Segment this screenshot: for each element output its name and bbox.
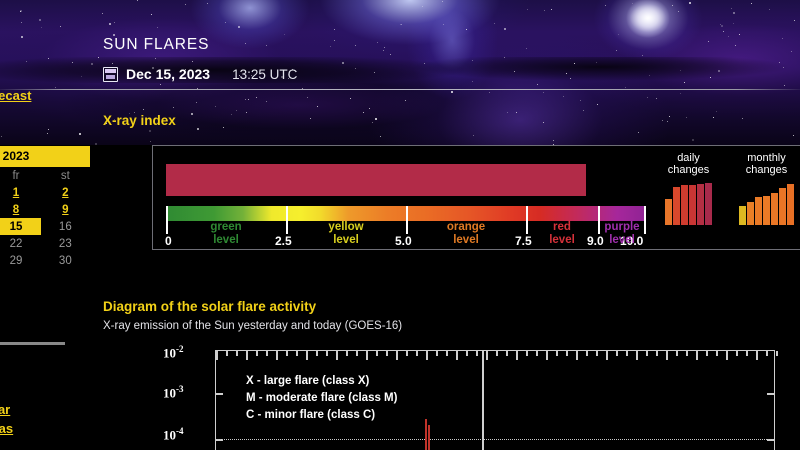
star xyxy=(662,120,663,121)
flare-class-legend: X - large flare (class X) M - moderate f… xyxy=(246,373,397,424)
star xyxy=(583,110,584,111)
star xyxy=(728,36,729,37)
calendar-weekday: st xyxy=(41,167,90,184)
x-axis-tick xyxy=(716,351,718,356)
star xyxy=(374,72,375,73)
sidebar-calendar[interactable]: 2023 nfrst 12789141516212223282930 xyxy=(0,146,90,269)
monthly-changes-title-line2: changes xyxy=(739,164,794,176)
star xyxy=(401,24,402,25)
star xyxy=(307,97,308,98)
star xyxy=(245,43,246,44)
star xyxy=(742,118,743,119)
star xyxy=(710,77,711,78)
star xyxy=(649,75,650,76)
star xyxy=(372,122,373,123)
star xyxy=(256,97,257,98)
star xyxy=(150,141,151,142)
star xyxy=(197,128,199,130)
star xyxy=(451,91,453,93)
star xyxy=(363,112,364,113)
x-axis-tick xyxy=(576,351,578,360)
x-axis-tick xyxy=(426,351,428,360)
star xyxy=(784,85,785,86)
x-axis-tick xyxy=(346,351,348,356)
x-axis-tick xyxy=(336,351,338,360)
star xyxy=(514,71,515,72)
star xyxy=(733,12,735,14)
star xyxy=(248,99,249,100)
x-axis-tick xyxy=(306,351,308,360)
calendar-week-row: 141516 xyxy=(0,218,90,235)
x-axis-tick xyxy=(666,351,668,360)
star xyxy=(473,135,474,136)
star xyxy=(155,58,156,59)
x-axis-tick xyxy=(676,351,678,356)
sidebar: ine y forecast 2023 nfrst 12789141516212… xyxy=(0,0,90,450)
star xyxy=(157,27,158,28)
x-axis-tick xyxy=(626,351,628,356)
legend-item-m: M - moderate flare (class M) xyxy=(246,390,397,407)
x-axis-tick xyxy=(686,351,688,356)
y-tick-right-1e-3 xyxy=(767,393,774,395)
star xyxy=(466,29,467,30)
calendar-day-15[interactable]: 15 xyxy=(0,218,41,235)
star xyxy=(543,122,544,123)
star xyxy=(390,54,391,55)
star xyxy=(422,6,423,7)
x-axis-tick xyxy=(776,351,778,356)
star xyxy=(597,104,598,105)
x-axis-tick xyxy=(496,351,498,356)
sidebar-note-line1: in solar xyxy=(0,400,13,419)
star xyxy=(266,101,267,102)
goes-plot-area: X - large flare (class X) M - moderate f… xyxy=(215,350,775,450)
calendar-day-29: 29 xyxy=(0,252,41,269)
star xyxy=(563,96,564,97)
star xyxy=(225,22,226,23)
daily-changes-title-line1: daily xyxy=(665,152,712,164)
report-time: 13:25 UTC xyxy=(232,67,297,82)
star xyxy=(642,55,643,56)
x-axis-tick xyxy=(556,351,558,356)
scale-tick-label: 0 xyxy=(165,234,172,248)
mini-bar xyxy=(763,196,770,225)
calendar-week-row: 12 xyxy=(0,184,90,201)
level-label-name: green xyxy=(210,221,241,233)
star xyxy=(160,84,161,85)
star xyxy=(580,100,581,101)
x-axis-tick xyxy=(256,351,258,356)
page-root: SUN FLARES Dec 15, 2023 13:25 UTC X-ray … xyxy=(0,0,800,450)
star xyxy=(684,82,685,83)
section-title-diagram: Diagram of the solar flare activity xyxy=(103,299,316,314)
star xyxy=(384,47,385,48)
level-label-word: level xyxy=(213,234,239,246)
x-axis-tick xyxy=(646,351,648,356)
star xyxy=(570,78,571,79)
star xyxy=(574,63,575,64)
mini-bar xyxy=(747,202,754,225)
calendar-header-year: 2023 xyxy=(0,146,90,167)
y-axis-label-1e-3: 10-3 xyxy=(163,384,184,401)
star xyxy=(236,110,237,111)
star xyxy=(647,97,648,98)
x-axis-tick xyxy=(526,351,528,356)
mini-bar xyxy=(755,197,762,225)
star xyxy=(731,8,732,9)
calendar-week-row: 212223 xyxy=(0,235,90,252)
legend-item-x: X - large flare (class X) xyxy=(246,373,397,390)
calendar-day-2[interactable]: 2 xyxy=(41,184,90,201)
calendar-table[interactable]: nfrst 12789141516212223282930 xyxy=(0,167,90,269)
x-axis-tick xyxy=(466,351,468,356)
header-divider xyxy=(0,89,800,90)
star xyxy=(791,51,792,52)
level-label-name: yellow xyxy=(328,221,363,233)
star xyxy=(507,112,508,113)
mini-bar xyxy=(681,185,688,225)
calendar-body[interactable]: 12789141516212223282930 xyxy=(0,184,90,269)
star xyxy=(526,48,527,49)
star xyxy=(91,63,93,65)
star xyxy=(424,63,425,64)
star xyxy=(375,118,377,120)
x-axis-tick xyxy=(706,351,708,356)
star xyxy=(686,117,687,118)
scale-tick-label: 7.5 xyxy=(515,234,532,248)
star xyxy=(207,3,208,4)
star xyxy=(656,98,657,99)
star xyxy=(504,57,505,58)
star xyxy=(112,63,113,64)
star xyxy=(537,84,538,85)
star xyxy=(669,116,670,117)
x-axis-tick xyxy=(756,351,758,360)
x-axis-tick xyxy=(586,351,588,356)
x-axis-tick xyxy=(766,351,768,356)
level-label-word: level xyxy=(549,234,575,246)
mini-bar xyxy=(697,184,704,225)
report-date: Dec 15, 2023 xyxy=(126,66,210,82)
calendar-day-16: 16 xyxy=(41,218,90,235)
calendar-icon xyxy=(103,67,118,82)
star xyxy=(739,34,740,35)
star xyxy=(527,9,528,10)
day-boundary-line xyxy=(482,351,484,450)
x-axis-tick xyxy=(386,351,388,356)
star xyxy=(516,112,517,113)
star xyxy=(143,109,144,110)
star xyxy=(196,102,197,103)
y-tick-left-1e-3 xyxy=(216,393,223,395)
level-label-purple: purplelevel xyxy=(592,221,652,246)
star xyxy=(680,93,681,94)
mini-bar xyxy=(689,185,696,225)
x-axis-tick xyxy=(276,351,278,360)
x-axis-tick xyxy=(546,351,548,360)
mini-bar xyxy=(705,183,712,225)
x-axis-tick xyxy=(506,351,508,356)
star xyxy=(98,57,99,58)
star xyxy=(310,118,311,119)
mini-bar xyxy=(673,187,680,225)
star xyxy=(708,41,709,42)
scale-tick xyxy=(406,206,408,234)
star xyxy=(618,34,619,35)
calendar-day-22: 22 xyxy=(0,235,41,252)
scale-tick xyxy=(166,206,168,234)
xray-index-panel: 02.55.07.59.010.0 greenlevelyellowlevelo… xyxy=(152,145,800,250)
x-axis-tick xyxy=(416,351,418,356)
x-axis-tick xyxy=(456,351,458,360)
x-axis-tick xyxy=(746,351,748,356)
scale-tick xyxy=(286,206,288,234)
star xyxy=(566,73,567,74)
xray-index-bar-value xyxy=(166,164,586,196)
star xyxy=(334,40,335,41)
star xyxy=(551,9,552,10)
x-axis-tick xyxy=(396,351,398,360)
star xyxy=(721,25,723,27)
sidebar-divider xyxy=(0,342,65,345)
monthly-changes-title-line1: monthly xyxy=(739,152,794,164)
star xyxy=(494,23,495,24)
xray-index-bar-track xyxy=(166,164,646,196)
x-axis-tick xyxy=(216,351,218,360)
x-axis-tick xyxy=(366,351,368,360)
mini-bar xyxy=(739,206,746,225)
flare-spike xyxy=(428,425,430,450)
date-row: Dec 15, 2023 13:25 UTC xyxy=(103,66,297,82)
star xyxy=(596,62,597,63)
star xyxy=(751,3,752,4)
star xyxy=(114,22,115,23)
mini-bar xyxy=(779,188,786,225)
calendar-week-row: 789 xyxy=(0,201,90,218)
star xyxy=(246,112,247,113)
star xyxy=(149,130,151,132)
star xyxy=(472,60,473,61)
x-axis-tick xyxy=(566,351,568,356)
calendar-day-1[interactable]: 1 xyxy=(0,184,41,201)
sidebar-note[interactable]: in solar rcle has xyxy=(0,400,13,438)
star xyxy=(638,132,639,133)
section-subtitle-diagram: X-ray emission of the Sun yesterday and … xyxy=(103,320,402,332)
star xyxy=(342,62,344,64)
star xyxy=(350,98,351,99)
star xyxy=(238,26,240,28)
star xyxy=(678,11,679,12)
x-axis-tick xyxy=(296,351,298,356)
star xyxy=(330,46,331,47)
x-axis-tick xyxy=(286,351,288,356)
level-label-name: red xyxy=(553,221,571,233)
star xyxy=(716,111,717,112)
x-axis-tick xyxy=(226,351,228,356)
star xyxy=(383,50,384,51)
x-axis-tick xyxy=(606,351,608,360)
daily-changes-chart: daily changes xyxy=(665,152,712,225)
star xyxy=(355,45,356,46)
level-label-orange: orangelevel xyxy=(436,221,496,246)
mini-bar xyxy=(771,193,778,225)
star xyxy=(369,108,370,109)
star xyxy=(692,139,694,141)
x-axis-tick xyxy=(726,351,728,360)
scale-tick-label: 2.5 xyxy=(275,234,292,248)
star xyxy=(173,107,174,108)
x-axis-tick xyxy=(376,351,378,356)
star xyxy=(625,87,626,88)
star xyxy=(215,106,216,107)
star xyxy=(192,61,193,62)
x-axis-tick xyxy=(236,351,238,356)
x-axis-tick xyxy=(476,351,478,356)
page-title: SUN FLARES xyxy=(103,36,209,54)
star xyxy=(489,92,490,93)
star xyxy=(689,2,691,4)
x-axis-tick xyxy=(636,351,638,360)
star xyxy=(380,136,381,137)
star xyxy=(605,5,606,6)
star xyxy=(95,143,97,145)
star xyxy=(713,117,714,118)
daily-changes-bars xyxy=(665,180,712,225)
star xyxy=(472,81,473,82)
x-axis-tick xyxy=(656,351,658,356)
star xyxy=(733,23,734,24)
star xyxy=(231,114,232,115)
star xyxy=(102,13,103,14)
star xyxy=(334,29,335,30)
star xyxy=(667,121,668,122)
star xyxy=(442,1,443,2)
calendar-day-23: 23 xyxy=(41,235,90,252)
star xyxy=(779,62,780,63)
x-axis-tick xyxy=(316,351,318,356)
star xyxy=(245,99,246,100)
star xyxy=(151,14,152,15)
star xyxy=(543,92,544,93)
x-axis-tick xyxy=(736,351,738,356)
x-axis-tick xyxy=(326,351,328,356)
level-label-word: level xyxy=(453,234,479,246)
level-label-yellow: yellowlevel xyxy=(316,221,376,246)
calendar-week-row: 282930 xyxy=(0,252,90,269)
x-axis-tick xyxy=(446,351,448,356)
star xyxy=(783,67,784,68)
scale-tick-label: 5.0 xyxy=(395,234,412,248)
star xyxy=(109,23,111,25)
star xyxy=(191,113,193,115)
x-axis-tick xyxy=(696,351,698,360)
star xyxy=(266,45,267,46)
legend-item-c: C - minor flare (class C) xyxy=(246,407,397,424)
section-title-xray-index: X-ray index xyxy=(103,113,176,128)
star xyxy=(735,45,736,46)
level-label-green: greenlevel xyxy=(196,221,256,246)
level-label-word: level xyxy=(333,234,359,246)
star xyxy=(718,70,720,72)
flare-spike xyxy=(425,419,427,450)
star xyxy=(137,0,138,1)
x-axis-tick xyxy=(266,351,268,356)
goes-xray-flux-chart: 10-2 10-3 10-4 X - large flare (class X)… xyxy=(155,340,800,450)
star xyxy=(769,9,770,10)
mini-bar xyxy=(665,199,672,225)
sidebar-note-line2: rcle has xyxy=(0,419,13,438)
star xyxy=(355,68,356,69)
y-axis-label-1e-2: 10-2 xyxy=(163,344,184,361)
sidebar-link-2[interactable]: y forecast xyxy=(0,88,31,103)
x-axis-tick xyxy=(616,351,618,356)
x-axis-tick xyxy=(516,351,518,360)
y-axis-label-1e-4: 10-4 xyxy=(163,426,184,443)
x-axis-tick xyxy=(436,351,438,356)
star xyxy=(544,10,545,11)
x-axis-tick xyxy=(596,351,598,356)
star xyxy=(223,127,224,128)
x-axis-tick xyxy=(536,351,538,356)
calendar-day-30: 30 xyxy=(41,252,90,269)
star xyxy=(793,135,794,136)
star xyxy=(723,31,724,32)
star xyxy=(680,70,681,71)
star xyxy=(317,106,318,107)
calendar-day-9[interactable]: 9 xyxy=(41,201,90,218)
level-label-name: purple xyxy=(604,221,639,233)
level-label-red: redlevel xyxy=(532,221,592,246)
level-label-name: orange xyxy=(447,221,485,233)
monthly-changes-chart: monthly changes xyxy=(739,152,794,225)
mini-bar xyxy=(787,184,794,225)
star xyxy=(443,24,444,25)
star xyxy=(616,50,617,51)
monthly-changes-bars xyxy=(739,180,794,225)
star xyxy=(553,140,554,141)
star xyxy=(794,20,795,21)
level-label-word: level xyxy=(609,234,635,246)
x-axis-tick xyxy=(356,351,358,356)
x-axis-tick xyxy=(486,351,488,360)
star xyxy=(405,100,406,101)
calendar-day-8[interactable]: 8 xyxy=(0,201,41,218)
star xyxy=(284,34,285,35)
scale-tick xyxy=(526,206,528,234)
calendar-weekday: fr xyxy=(0,167,41,184)
x-axis-tick xyxy=(246,351,248,360)
star xyxy=(504,28,506,30)
calendar-weekday-row: nfrst xyxy=(0,167,90,184)
star xyxy=(632,3,633,4)
x-axis-tick xyxy=(406,351,408,356)
star xyxy=(377,42,378,43)
daily-changes-title-line2: changes xyxy=(665,164,712,176)
star xyxy=(185,4,186,5)
star xyxy=(672,5,673,6)
star xyxy=(782,38,783,39)
gridline-1e-4 xyxy=(217,439,773,440)
